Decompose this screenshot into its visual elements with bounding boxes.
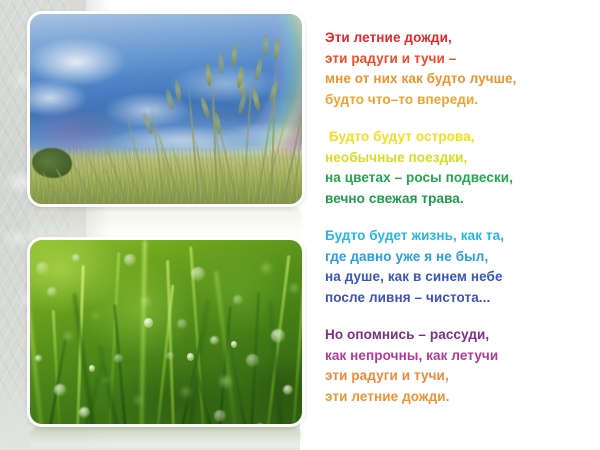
- bokeh-highlight: [35, 355, 42, 362]
- wheat-ear: [231, 44, 238, 66]
- wheat-ear: [218, 52, 224, 74]
- bokeh-highlight: [283, 385, 293, 395]
- bokeh-highlight: [114, 354, 123, 363]
- stanza-1-line-3: мне от них как будто лучше,: [325, 69, 587, 90]
- bokeh-highlight: [166, 352, 174, 360]
- dew-drop: [144, 318, 153, 328]
- stanza-1-line-2: эти радуги и тучи –: [325, 49, 587, 70]
- bokeh-highlight: [54, 384, 66, 396]
- stanza-2-line-4: вечно свежая трава.: [325, 189, 587, 210]
- photo-grass-content: [30, 240, 302, 424]
- wheat-stalk: [270, 54, 277, 204]
- bokeh-highlight: [79, 407, 90, 418]
- wheat-stalk: [188, 84, 200, 204]
- photo-rainbow-content: [30, 14, 302, 204]
- bokeh-highlights-group: [30, 240, 302, 424]
- bokeh-highlight: [103, 377, 110, 384]
- stanza-4-line-4: эти летние дожди.: [325, 387, 587, 408]
- stanza-2-line-1: Будто будут острова,: [325, 127, 587, 148]
- stanza-1-line-1: Эти летние дожди,: [325, 28, 587, 49]
- bokeh-highlight: [92, 312, 100, 320]
- wheat-stalk: [170, 140, 190, 204]
- bokeh-highlight: [191, 267, 205, 281]
- stanza-2-line-3: на цветах – росы подвески,: [325, 168, 587, 189]
- bokeh-highlight: [177, 319, 187, 329]
- stanza-4-line-1: Но опомнись – рассуди,: [325, 325, 587, 346]
- stanza-3: Будто будет жизнь, как та,где давно уже …: [325, 226, 587, 308]
- stanza-1-line-4: будто что–то впереди.: [325, 90, 587, 111]
- bokeh-highlight: [134, 396, 143, 405]
- wheat-ear: [174, 80, 182, 102]
- stanza-3-line-2: где давно уже я не был,: [325, 247, 587, 268]
- bokeh-highlight: [72, 254, 80, 262]
- bokeh-highlight: [124, 254, 136, 266]
- stanza-4-line-2: как непрочны, как летучи: [325, 346, 587, 367]
- wheat-ear: [254, 58, 263, 81]
- bokeh-highlight: [233, 295, 243, 305]
- photo-dewy-green-grass: [30, 240, 302, 424]
- bokeh-highlight: [47, 287, 57, 297]
- bokeh-highlight: [214, 410, 226, 422]
- wheat-ear: [263, 34, 269, 56]
- wheat-ear: [268, 80, 279, 103]
- wheat-stalk: [101, 161, 120, 204]
- bokeh-highlight: [210, 336, 219, 345]
- wheat-ear: [237, 92, 248, 115]
- wheat-stalks-group: [30, 14, 302, 204]
- wheat-ear: [251, 88, 261, 111]
- bokeh-highlight: [64, 332, 73, 341]
- wheat-ear: [273, 38, 281, 60]
- bokeh-highlight: [246, 354, 259, 367]
- slide-canvas: Эти летние дожди,эти радуги и тучи –мне …: [0, 0, 600, 450]
- stanza-4: Но опомнись – рассуди,как непрочны, как …: [325, 325, 587, 407]
- stanza-3-line-4: после ливня – чистота...: [325, 288, 587, 309]
- bokeh-highlight: [181, 387, 192, 398]
- stanza-1: Эти летние дожди,эти радуги и тучи –мне …: [325, 28, 587, 110]
- stanza-2: Будто будут острова,необычные поездки,на…: [325, 127, 587, 209]
- wheat-ear: [164, 88, 174, 111]
- dew-drop: [124, 424, 129, 425]
- stanza-3-line-3: на душе, как в синем небе: [325, 267, 587, 288]
- stanza-4-line-3: эти радуги и тучи,: [325, 366, 587, 387]
- stanza-3-line-1: Будто будет жизнь, как та,: [325, 226, 587, 247]
- dew-drop: [231, 341, 237, 348]
- photo-rainbow-over-field: [30, 14, 302, 204]
- wheat-stalk: [262, 115, 287, 204]
- bokeh-highlight: [255, 423, 265, 424]
- bokeh-highlight: [220, 376, 232, 388]
- dew-drop: [187, 353, 194, 361]
- bokeh-highlight: [290, 284, 299, 293]
- poem-text-block: Эти летние дожди,эти радуги и тучи –мне …: [325, 28, 587, 407]
- bokeh-highlight: [141, 297, 151, 307]
- bokeh-highlight: [36, 262, 49, 275]
- stanza-2-line-2: необычные поездки,: [325, 148, 587, 169]
- bokeh-highlight: [271, 329, 285, 343]
- dew-drop: [89, 365, 95, 372]
- bokeh-highlight: [261, 263, 272, 274]
